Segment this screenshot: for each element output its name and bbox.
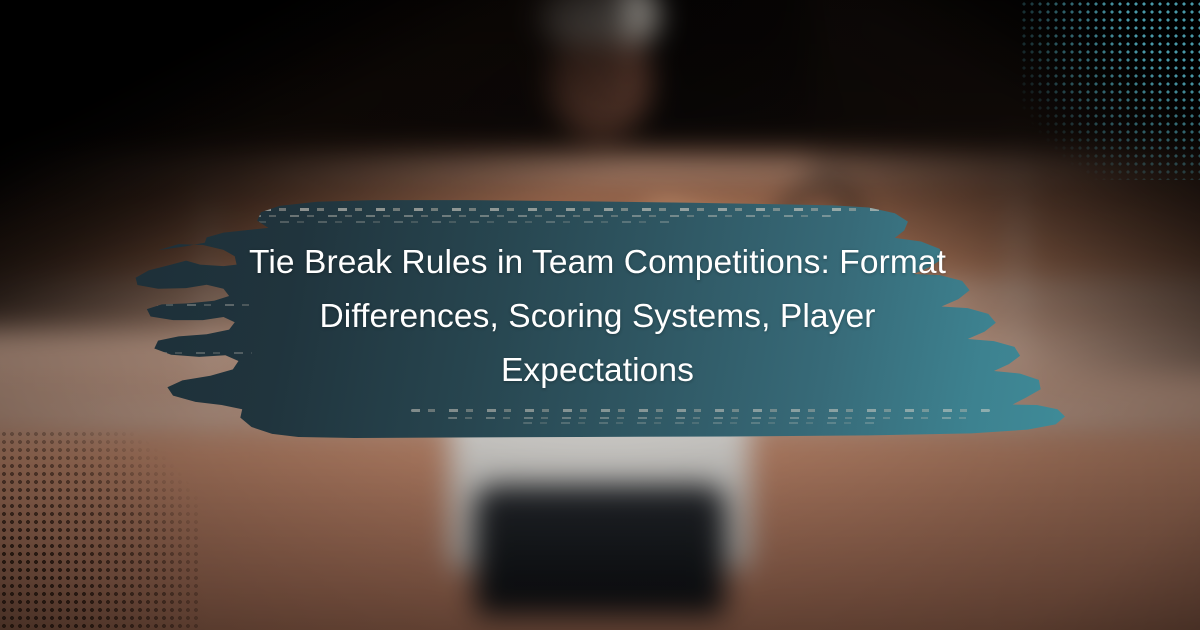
page-title-text: Tie Break Rules in Team Competitions: Fo… xyxy=(226,236,969,399)
hero-card: Tie Break Rules in Team Competitions: Fo… xyxy=(0,0,1200,630)
page-title: Tie Break Rules in Team Competitions: Fo… xyxy=(130,186,1065,448)
